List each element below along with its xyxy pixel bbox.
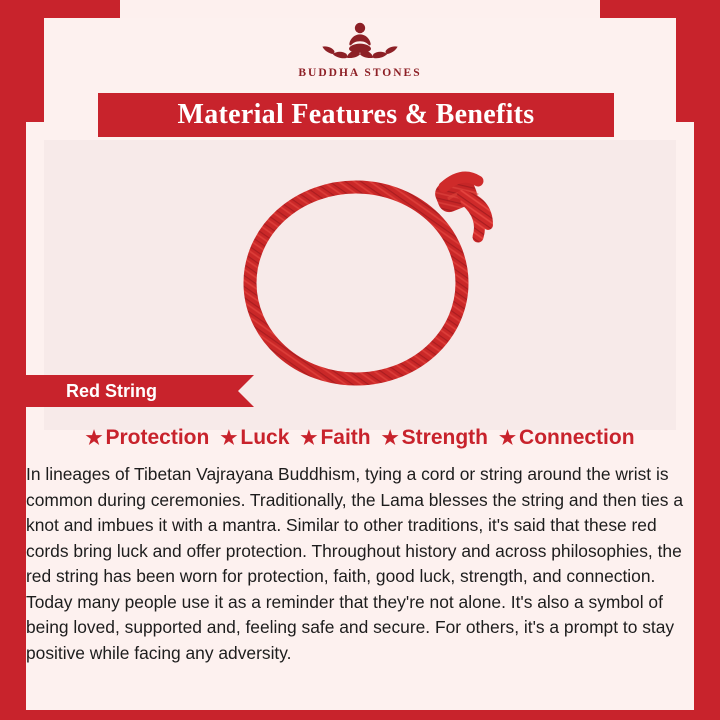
- title-banner: Material Features & Benefits: [98, 93, 614, 137]
- red-braided-string-bracelet-illustration: [230, 155, 500, 395]
- star-icon: ★: [499, 427, 516, 450]
- description-text: In lineages of Tibetan Vajrayana Buddhis…: [26, 458, 694, 710]
- frame-border-left: [0, 0, 26, 720]
- frame-border-top-right: [600, 0, 720, 18]
- brand-name: BUDDHA STONES: [298, 67, 421, 79]
- infographic-page: BUDDHA STONES Material Features & Benefi…: [0, 0, 720, 720]
- keyword-strength: ★ Strength: [371, 426, 488, 450]
- star-icon: ★: [300, 427, 317, 450]
- keyword-label: Faith: [320, 426, 370, 450]
- product-label-tab-tail: [238, 375, 254, 407]
- brand-logo: BUDDHA STONES: [0, 18, 720, 90]
- keyword-label: Protection: [106, 426, 210, 450]
- keyword-label: Strength: [402, 426, 488, 450]
- frame-border-top-left: [0, 0, 120, 18]
- lotus-meditation-figure-icon: [306, 18, 414, 66]
- keyword-faith: ★ Faith: [289, 426, 370, 450]
- product-label-tab: Red String: [26, 375, 238, 407]
- star-icon: ★: [220, 427, 237, 450]
- keyword-label: Luck: [240, 426, 289, 450]
- keyword-label: Connection: [519, 426, 635, 450]
- frame-border-bottom: [0, 710, 720, 720]
- keyword-luck: ★ Luck: [209, 426, 289, 450]
- page-title: Material Features & Benefits: [178, 99, 535, 131]
- keyword-connection: ★ Connection: [488, 426, 635, 450]
- star-icon: ★: [382, 427, 399, 450]
- star-icon: ★: [85, 427, 102, 450]
- keyword-protection: ★ Protection: [85, 426, 209, 450]
- product-label: Red String: [66, 381, 157, 402]
- benefit-keywords-row: ★ Protection ★ Luck ★ Faith ★ Strength ★…: [30, 420, 690, 456]
- frame-border-right: [694, 0, 720, 720]
